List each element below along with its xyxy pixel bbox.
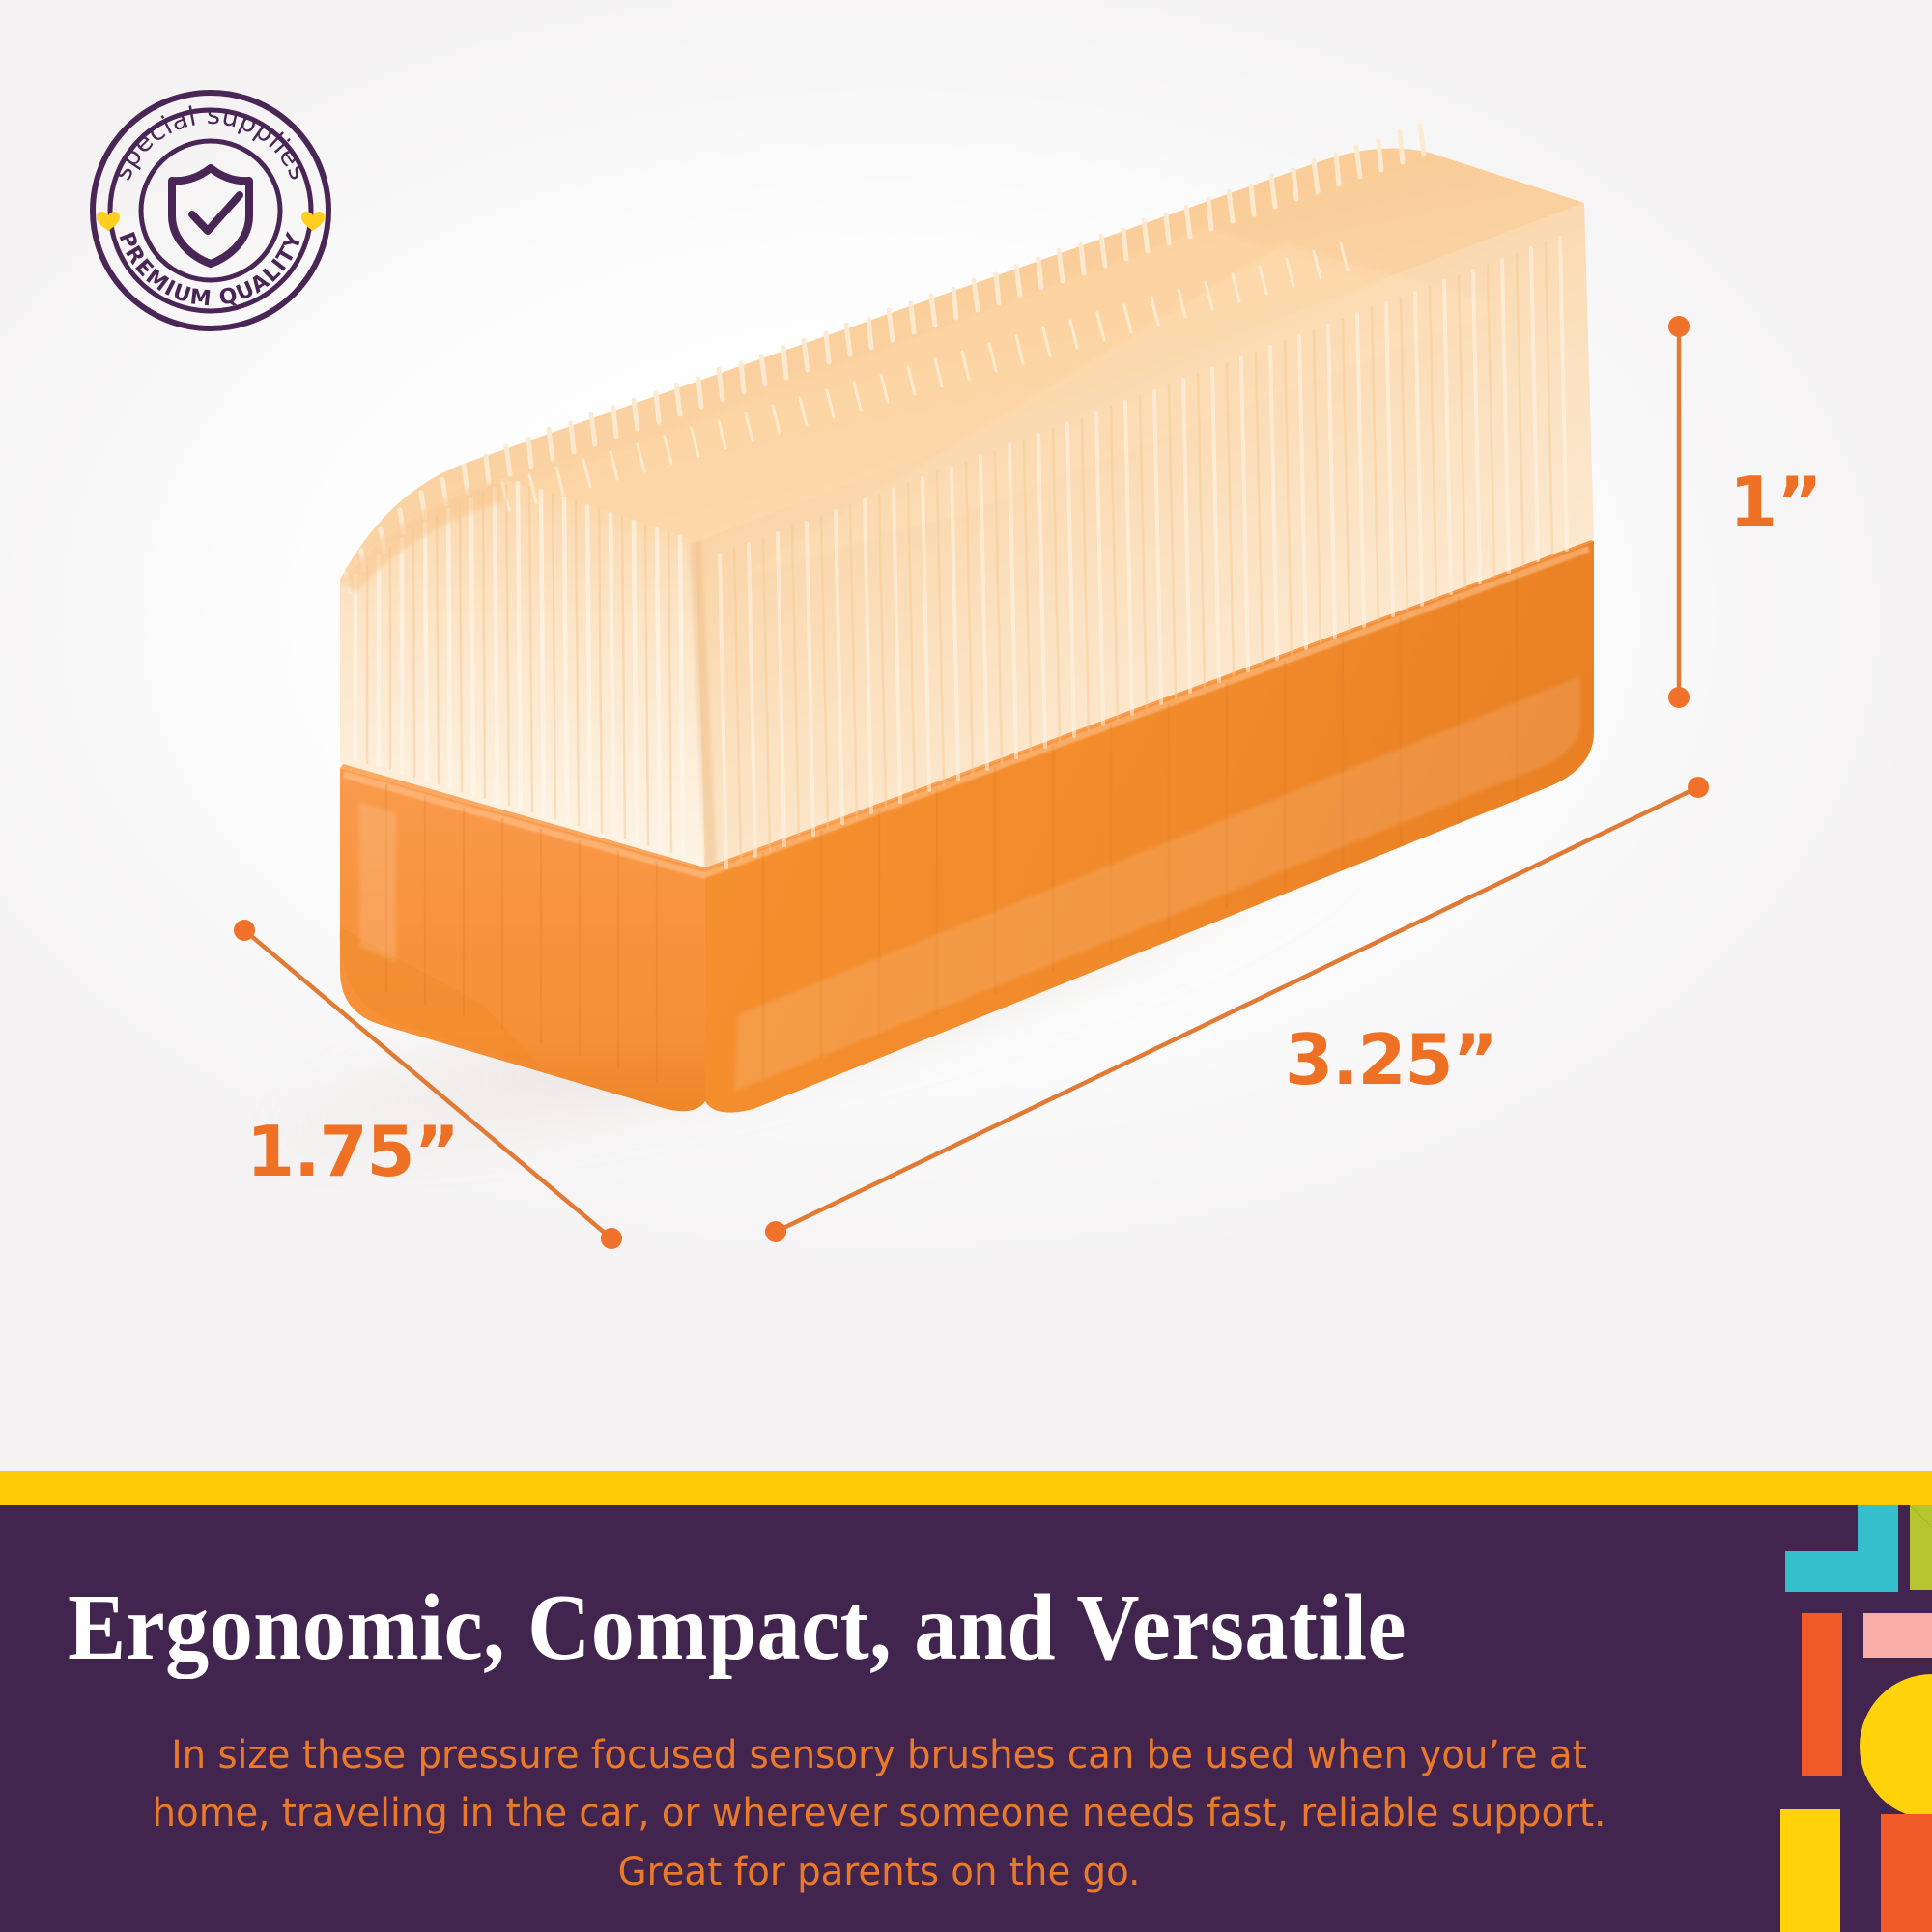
- yellow-divider-bar: [0, 1471, 1932, 1505]
- feature-banner: Ergonomic, Compact, and Versatile In siz…: [0, 1505, 1932, 1932]
- dimension-label-length: 3.25”: [1285, 1019, 1497, 1100]
- dimension-line-length: [765, 777, 1709, 1242]
- banner-text-block: Ergonomic, Compact, and Versatile In siz…: [0, 1505, 1748, 1932]
- dimension-label-depth: 1.75”: [246, 1111, 459, 1192]
- teal-l-shape: [1785, 1505, 1898, 1592]
- yellow-circle: [1860, 1674, 1932, 1819]
- yellow-rectangle: [1780, 1809, 1840, 1932]
- product-infographic: 1” 1.75” 3.25” special supplies PREMIUM …: [0, 0, 1932, 1932]
- product-photo-area: 1” 1.75” 3.25” special supplies PREMIUM …: [0, 0, 1932, 1471]
- dimension-label-height: 1”: [1729, 462, 1821, 543]
- dimension-line-height: [1668, 316, 1690, 708]
- orange-vertical-bar: [1802, 1613, 1842, 1776]
- svg-text:PREMIUM QUALITY: PREMIUM QUALITY: [113, 229, 307, 312]
- pink-rectangle: [1863, 1613, 1932, 1658]
- dimension-line-depth: [234, 920, 622, 1249]
- premium-quality-badge: special supplies PREMIUM QUALITY: [85, 85, 336, 336]
- orange-rectangle: [1881, 1814, 1932, 1932]
- shield-check-icon: [172, 168, 249, 264]
- decorative-shape-group: [1763, 1505, 1932, 1932]
- banner-headline: Ergonomic, Compact, and Versatile: [68, 1580, 1613, 1674]
- badge-bottom-text: PREMIUM QUALITY: [113, 229, 307, 312]
- banner-body-copy: In size these pressure focused sensory b…: [113, 1725, 1644, 1900]
